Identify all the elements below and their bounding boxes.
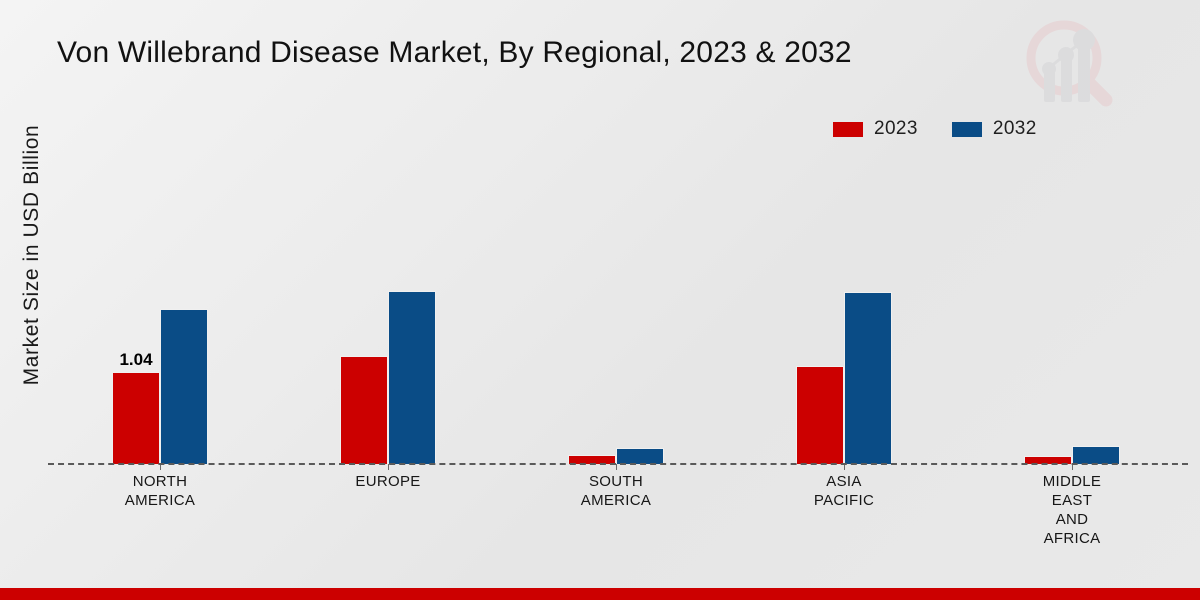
label-line: PACIFIC bbox=[814, 491, 874, 510]
label-line: AND bbox=[1043, 510, 1101, 529]
label-line: SOUTH bbox=[581, 472, 651, 491]
bar-pair bbox=[340, 150, 436, 464]
legend-item-2023[interactable]: 2023 bbox=[833, 118, 918, 140]
label-line: ASIA bbox=[814, 472, 874, 491]
bottom-accent-strip bbox=[0, 588, 1200, 600]
bar-pair bbox=[568, 150, 664, 464]
bar-pair: 1.04 bbox=[112, 150, 208, 464]
legend-item-2032[interactable]: 2032 bbox=[952, 118, 1037, 140]
bar-group-north-america: 1.04 NORTH AMERICA bbox=[48, 150, 272, 464]
y-axis-title: Market Size in USD Billion bbox=[20, 75, 44, 435]
brand-watermark-logo bbox=[1018, 14, 1122, 110]
bar-2032-europe[interactable] bbox=[388, 291, 436, 464]
bar-value-label-2023-north-america: 1.04 bbox=[119, 350, 152, 370]
chart-legend: 2023 2032 bbox=[833, 118, 1037, 140]
legend-swatch-2023 bbox=[833, 122, 863, 137]
x-axis-baseline bbox=[48, 463, 1188, 465]
bar-2032-south-america[interactable] bbox=[616, 448, 664, 464]
bar-pair bbox=[796, 150, 892, 464]
label-line: NORTH bbox=[125, 472, 195, 491]
bar-group-south-america: SOUTH AMERICA bbox=[504, 150, 728, 464]
bar-pair bbox=[1024, 150, 1120, 464]
bar-2023-europe[interactable] bbox=[340, 356, 388, 464]
bar-group-asia-pacific: ASIA PACIFIC bbox=[732, 150, 956, 464]
legend-label-2032: 2032 bbox=[993, 118, 1037, 140]
legend-swatch-2032 bbox=[952, 122, 982, 137]
x-axis-label-north-america: NORTH AMERICA bbox=[125, 472, 195, 510]
chart-title: Von Willebrand Disease Market, By Region… bbox=[57, 36, 852, 70]
x-axis-label-south-america: SOUTH AMERICA bbox=[581, 472, 651, 510]
x-axis-label-europe: EUROPE bbox=[355, 472, 420, 491]
chart-canvas: Von Willebrand Disease Market, By Region… bbox=[0, 0, 1200, 600]
legend-label-2023: 2023 bbox=[874, 118, 918, 140]
bar-2032-asia-pacific[interactable] bbox=[844, 292, 892, 464]
bar-2023-north-america[interactable]: 1.04 bbox=[112, 372, 160, 464]
label-line: AMERICA bbox=[581, 491, 651, 510]
bar-group-europe: EUROPE bbox=[276, 150, 500, 464]
plot-area: 1.04 NORTH AMERICA EUROPE bbox=[48, 150, 1188, 464]
label-line: EAST bbox=[1043, 491, 1101, 510]
bar-2032-middle-east-and-africa[interactable] bbox=[1072, 446, 1120, 464]
bar-2032-north-america[interactable] bbox=[160, 309, 208, 464]
x-axis-label-asia-pacific: ASIA PACIFIC bbox=[814, 472, 874, 510]
label-line: EUROPE bbox=[355, 472, 420, 491]
label-line: AMERICA bbox=[125, 491, 195, 510]
label-line: AFRICA bbox=[1043, 529, 1101, 548]
x-axis-label-middle-east-and-africa: MIDDLE EAST AND AFRICA bbox=[1043, 472, 1101, 548]
bar-group-middle-east-and-africa: MIDDLE EAST AND AFRICA bbox=[960, 150, 1184, 464]
label-line: MIDDLE bbox=[1043, 472, 1101, 491]
magnifier-bar-chart-icon bbox=[1018, 14, 1122, 110]
bar-2023-asia-pacific[interactable] bbox=[796, 366, 844, 464]
